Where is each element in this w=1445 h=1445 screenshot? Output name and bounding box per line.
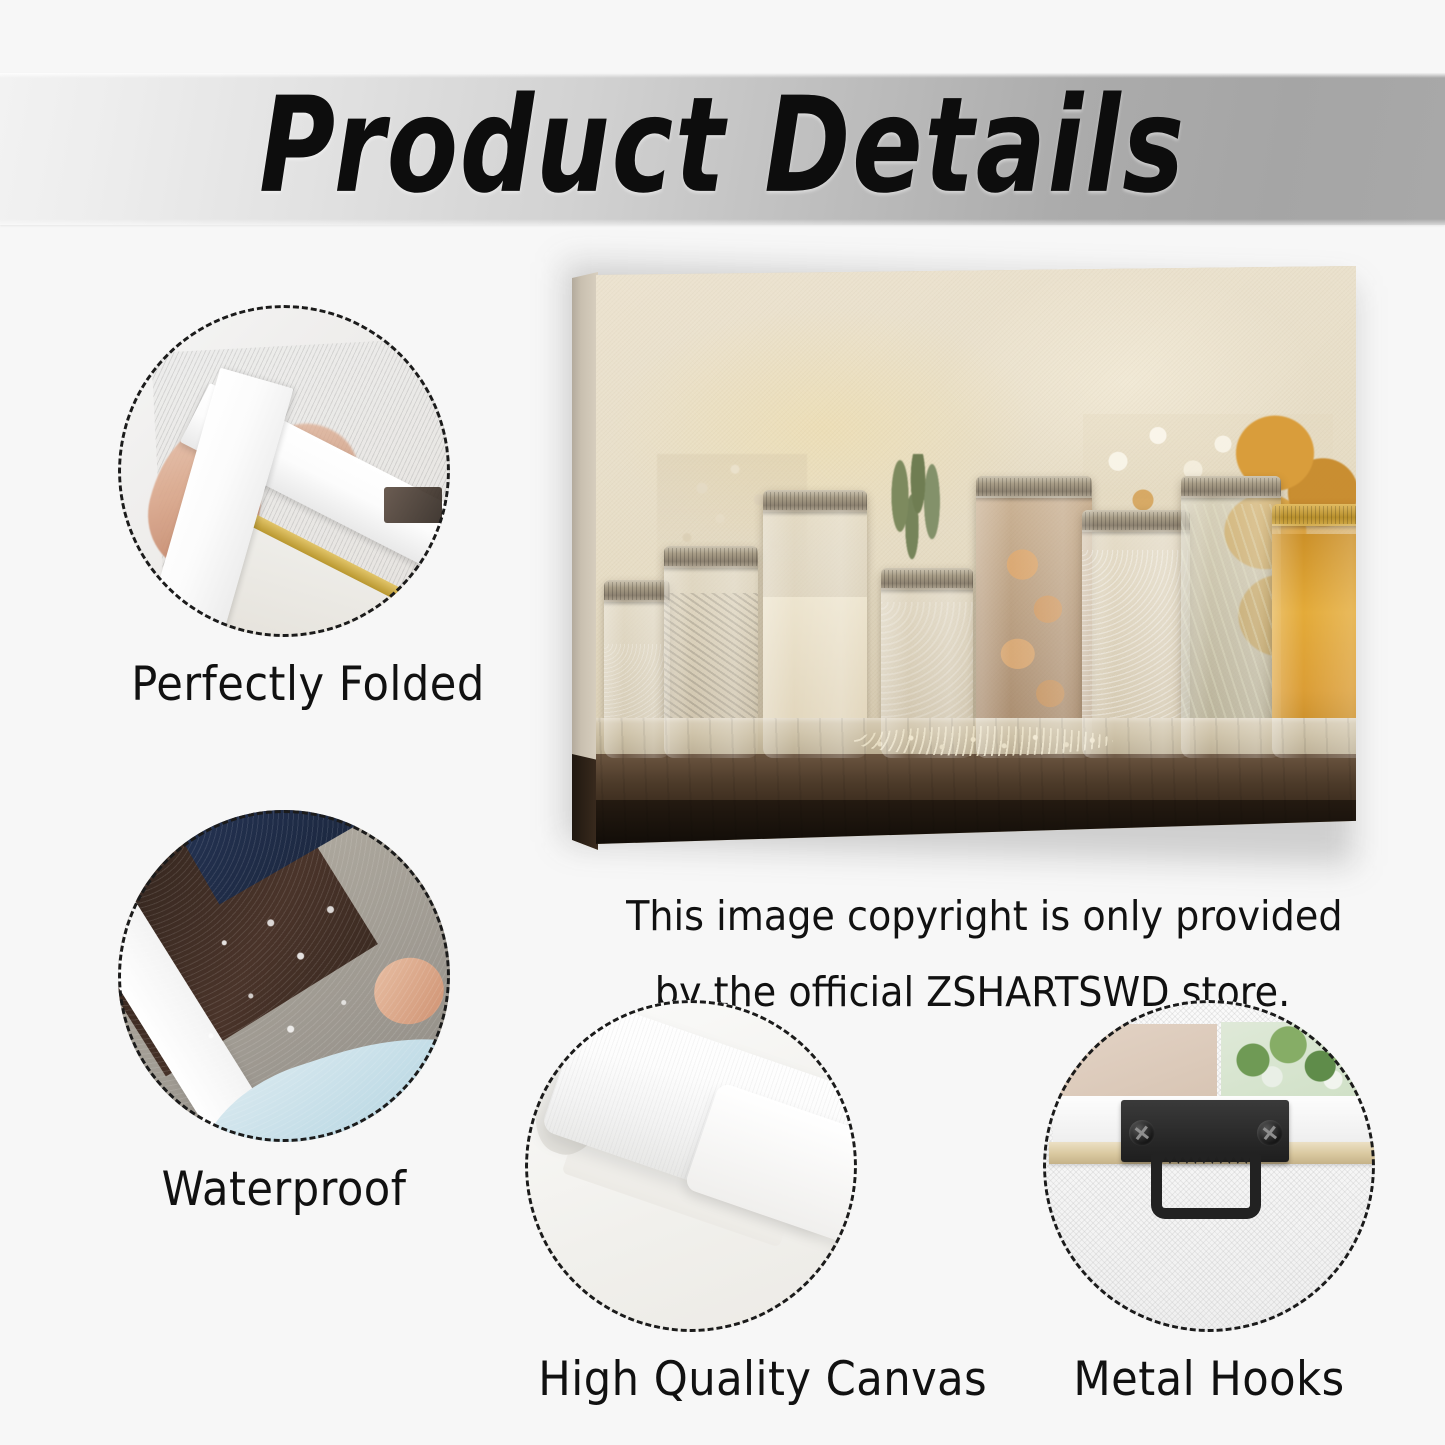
feature-label-perfectly-folded: Perfectly Folded [131,657,436,712]
jar-lid [1181,476,1281,498]
screw-right [1257,1120,1283,1146]
feature-waterproof: Waterproof [118,810,450,1142]
jar-glass-highlight [763,510,867,758]
feature-label-high-quality-canvas: High Quality Canvas [538,1352,843,1407]
perfectly-folded-photo [118,305,450,637]
background-dark-object [384,487,442,523]
jar-glass-highlight [1181,496,1281,758]
foliage-artwork [1221,1022,1375,1098]
feature-metal-hooks: Metal Hooks [1043,1000,1375,1332]
jar-lid [604,580,670,602]
feature-label-waterproof: Waterproof [131,1162,436,1217]
jar-peppercorns [881,568,973,758]
feature-high-quality-canvas: High Quality Canvas [525,1000,857,1332]
beige-canvas-edge [1057,1024,1217,1104]
waterproof-photo [118,810,450,1142]
copyright-line-1: This image copyright is only provided [626,878,1319,954]
canvas-side-dark-bottom [572,754,598,850]
jar-honey [1272,504,1356,758]
screw-left [1129,1120,1155,1146]
metal-hooks-photo [1043,1000,1375,1332]
jar-lid [763,490,867,512]
jar-glass-highlight [1272,524,1356,758]
product-canvas-image [560,252,1370,862]
jar-lid [1082,510,1190,532]
page-title: Product Details [87,60,1359,230]
water-droplets [118,810,450,1142]
jar-seeds [664,546,758,758]
jar-lid [976,476,1092,498]
jar-glass-highlight [881,588,973,758]
jar-lid [881,568,973,590]
jar-lid [1272,504,1356,526]
jar-glass-highlight [976,496,1092,758]
jar-lid [664,546,758,568]
jar-glass-highlight [604,600,670,758]
jar-sugar [1082,510,1190,758]
high-quality-canvas-photo [525,1000,857,1332]
feature-perfectly-folded: Perfectly Folded [118,305,450,637]
jar-preserves [976,476,1092,758]
jar-glass-highlight [1082,530,1190,758]
canvas-artwork-face [596,266,1356,844]
product-details-page: Product Details Perfectly Folded [0,0,1445,1445]
hook-body [1151,1155,1261,1219]
feature-label-metal-hooks: Metal Hooks [1056,1352,1361,1407]
jar-flour [763,490,867,758]
jar-herbs [1181,476,1281,758]
header-banner: Product Details [0,73,1445,225]
jar-grain-far-left [604,580,670,758]
canvas-wrapped-side-edge [572,272,598,850]
jar-glass-highlight [664,566,758,758]
